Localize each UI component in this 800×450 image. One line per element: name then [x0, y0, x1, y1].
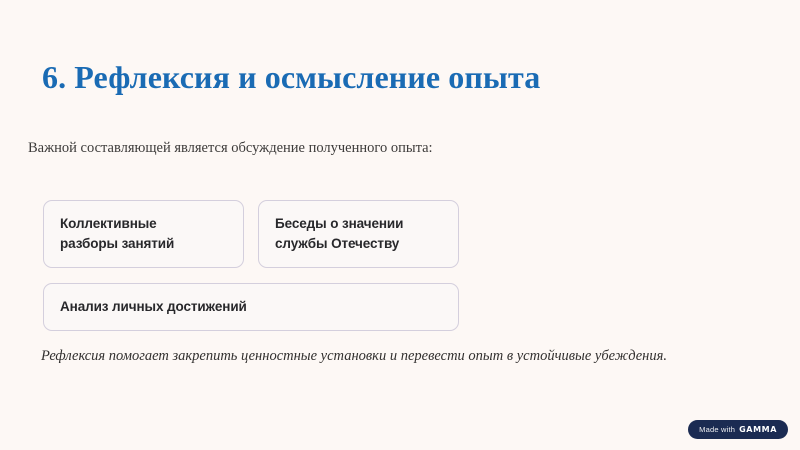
- card-label: Коллективные разборы занятий: [60, 214, 174, 253]
- slide-canvas: 6. Рефлексия и осмысление опыта Важной с…: [0, 0, 800, 450]
- card-personal-achievements-analysis[interactable]: Анализ личных достижений: [43, 283, 459, 331]
- card-label: Беседы о значении службы Отечеству: [275, 214, 403, 253]
- closing-statement: Рефлексия помогает закрепить ценностные …: [41, 347, 667, 366]
- badge-brand-label: GAMMA: [739, 425, 777, 434]
- badge-made-with-label: Made with: [699, 425, 735, 434]
- page-title: 6. Рефлексия и осмысление опыта: [42, 60, 540, 95]
- card-grid: Коллективные разборы занятий Беседы о зн…: [43, 200, 459, 346]
- card-talks-about-service[interactable]: Беседы о значении службы Отечеству: [258, 200, 459, 268]
- card-label: Анализ личных достижений: [60, 297, 247, 317]
- card-row-2: Анализ личных достижений: [43, 283, 459, 331]
- card-collective-reviews[interactable]: Коллективные разборы занятий: [43, 200, 244, 268]
- made-with-gamma-badge[interactable]: Made with GAMMA: [688, 420, 788, 439]
- card-row-1: Коллективные разборы занятий Беседы о зн…: [43, 200, 459, 268]
- lead-paragraph: Важной составляющей является обсуждение …: [28, 139, 433, 158]
